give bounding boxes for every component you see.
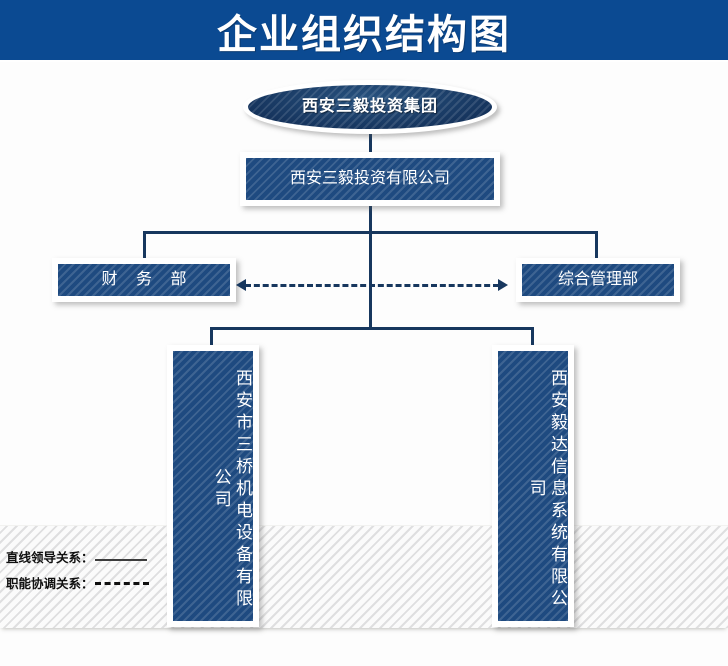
node-root-group-label: 西安三毅投资集团 xyxy=(248,85,492,129)
arrow-line xyxy=(245,284,499,287)
legend: 直线领导关系： 职能协调关系： xyxy=(6,543,186,595)
legend-sample-dashed-line xyxy=(95,582,149,585)
coordination-arrow xyxy=(236,278,508,292)
connector-subsidiaries-bus xyxy=(210,327,534,330)
connector-drop-admin xyxy=(595,231,598,259)
node-investment-company-label: 西安三毅投资有限公司 xyxy=(246,158,494,200)
page-title: 企业组织结构图 xyxy=(0,0,728,62)
connector-level2-trunk xyxy=(369,205,372,330)
node-admin-department-label: 综合管理部 xyxy=(522,264,674,296)
node-finance-department-label: 财 务 部 xyxy=(58,264,230,296)
org-chart-canvas: 企业组织结构图 西安三毅投资集团 西安三毅投资有限公司 财 务 部 综合管理部 … xyxy=(0,0,728,666)
node-yida-subsidiary[interactable]: 西安毅达信息系统有限公司 xyxy=(492,345,574,627)
legend-label-direct: 直线领导关系： xyxy=(6,547,94,566)
legend-label-functional: 职能协调关系： xyxy=(6,573,94,592)
connector-departments-bus xyxy=(143,231,598,234)
node-finance-department[interactable]: 财 务 部 xyxy=(52,258,236,302)
connector-drop-finance xyxy=(143,231,146,259)
legend-row-functional: 职能协调关系： xyxy=(6,569,186,595)
legend-sample-solid-line xyxy=(95,559,147,561)
connector-root-to-level2 xyxy=(369,132,372,152)
legend-row-direct: 直线领导关系： xyxy=(6,543,186,569)
node-investment-company[interactable]: 西安三毅投资有限公司 xyxy=(240,152,500,206)
node-yida-subsidiary-label: 西安毅达信息系统有限公司 xyxy=(498,351,568,621)
node-root-group[interactable]: 西安三毅投资集团 xyxy=(243,80,497,134)
node-admin-department[interactable]: 综合管理部 xyxy=(516,258,680,302)
arrow-head-right-icon xyxy=(498,279,508,291)
